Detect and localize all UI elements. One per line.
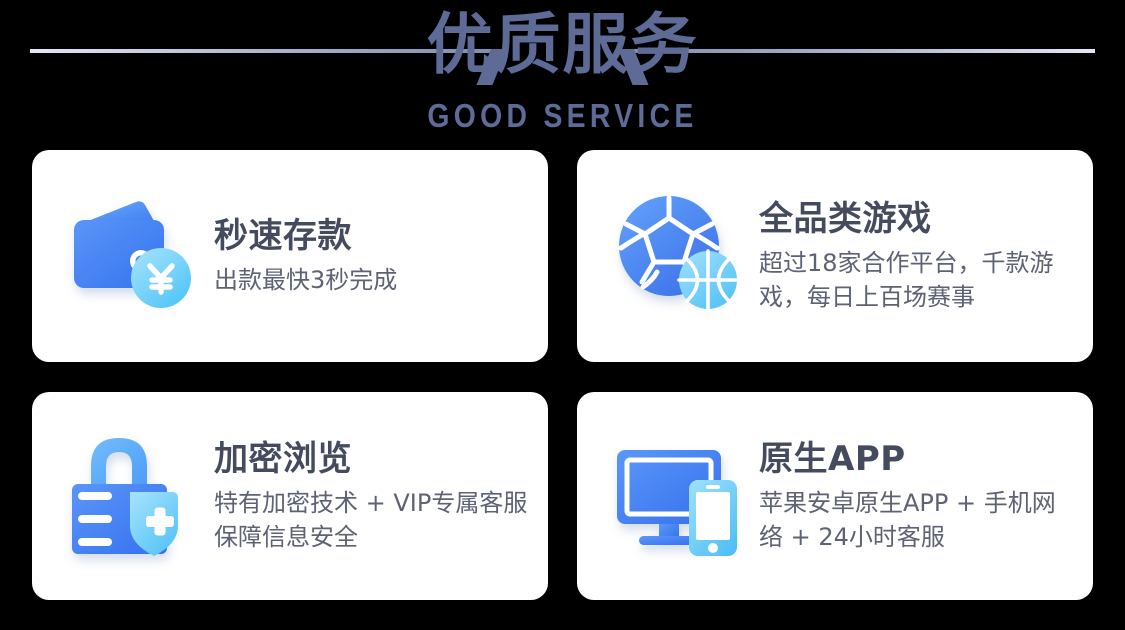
card-description: 超过18家合作平台，千款游戏，每日上百场赛事 [759,246,1079,314]
card-text-block: 秒速存款 出款最快3秒完成 [214,215,548,297]
card-description: 特有加密技术 + VIP专属客服保障信息安全 [214,486,534,554]
lock-shield-icon [66,428,202,564]
card-description: 出款最快3秒完成 [214,263,534,297]
card-title: 全品类游戏 [759,198,1079,240]
page-title: 优质服务 [0,2,1125,88]
feature-card-encryption[interactable]: 加密浏览 特有加密技术 + VIP专属客服保障信息安全 [32,392,548,600]
feature-card-native-app[interactable]: 原生APP 苹果安卓原生APP + 手机网络 + 24小时客服 [577,392,1093,600]
feature-card-games[interactable]: 全品类游戏 超过18家合作平台，千款游戏，每日上百场赛事 [577,150,1093,362]
card-description: 苹果安卓原生APP + 手机网络 + 24小时客服 [759,486,1079,554]
wallet-icon [66,188,202,324]
card-text-block: 加密浏览 特有加密技术 + VIP专属客服保障信息安全 [214,438,548,554]
card-text-block: 全品类游戏 超过18家合作平台，千款游戏，每日上百场赛事 [759,198,1093,314]
feature-card-deposit[interactable]: 秒速存款 出款最快3秒完成 [32,150,548,362]
card-title: 秒速存款 [214,215,534,257]
card-text-block: 原生APP 苹果安卓原生APP + 手机网络 + 24小时客服 [759,438,1093,554]
page-subtitle: GOOD SERVICE [79,97,1047,135]
soccer-basketball-icon [611,188,747,324]
feature-card-grid: 秒速存款 出款最快3秒完成 [32,150,1093,600]
page-header: 优质服务 GOOD SERVICE [0,0,1125,148]
monitor-phone-icon [611,428,747,564]
card-title: 加密浏览 [214,438,534,480]
card-title: 原生APP [759,438,1079,480]
promo-page: 优质服务 GOOD SERVICE [0,0,1125,630]
